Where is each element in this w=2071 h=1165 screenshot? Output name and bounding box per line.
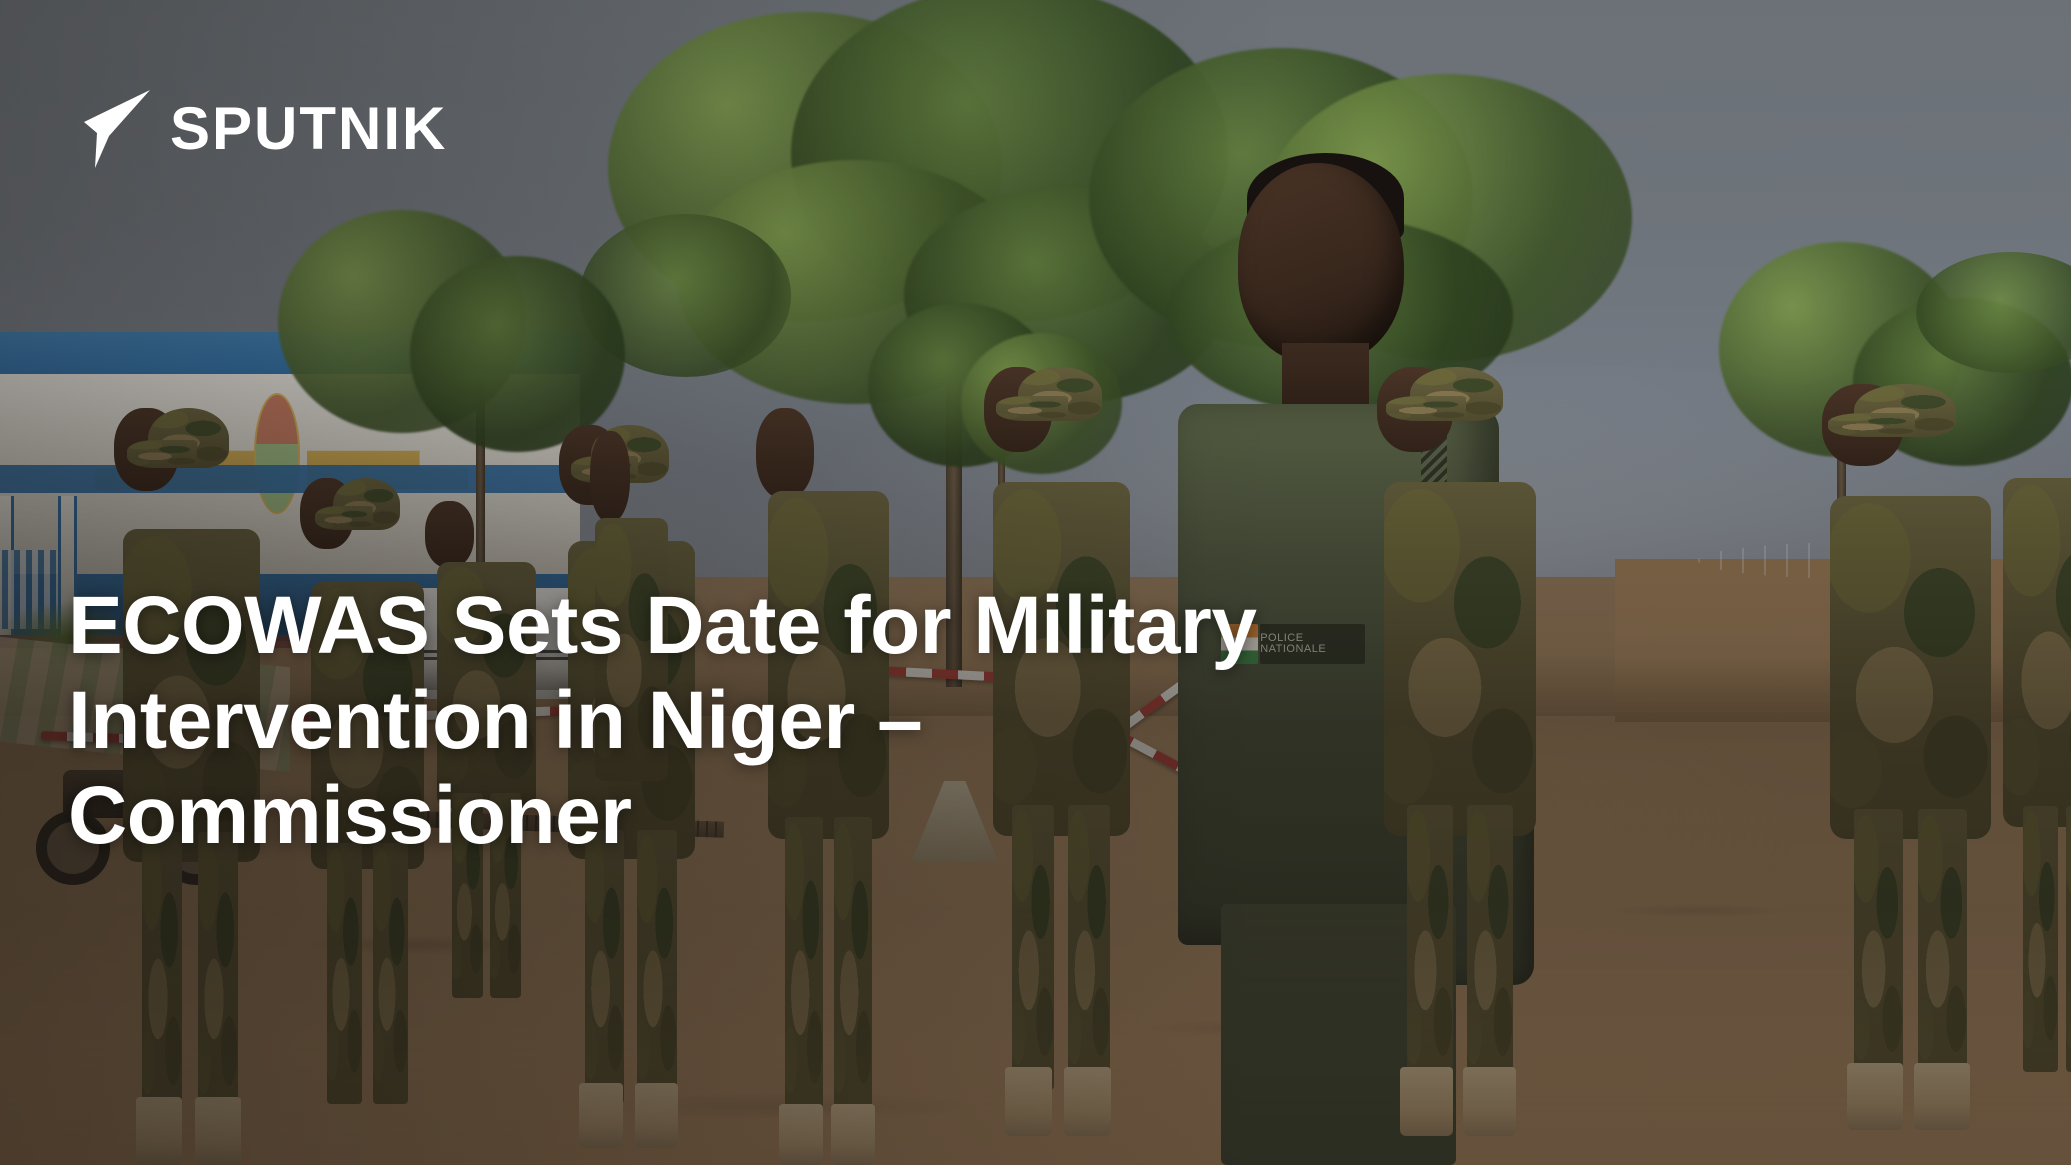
sputnik-wordmark: SPUTNIK [170, 99, 447, 159]
sputnik-arrow-icon [78, 88, 152, 170]
headline-title: ECOWAS Sets Date for Military Interventi… [68, 578, 1398, 863]
news-image-card: POLICE NATIONALE NIGER [0, 0, 2071, 1165]
sputnik-logo[interactable]: SPUTNIK [78, 88, 447, 170]
